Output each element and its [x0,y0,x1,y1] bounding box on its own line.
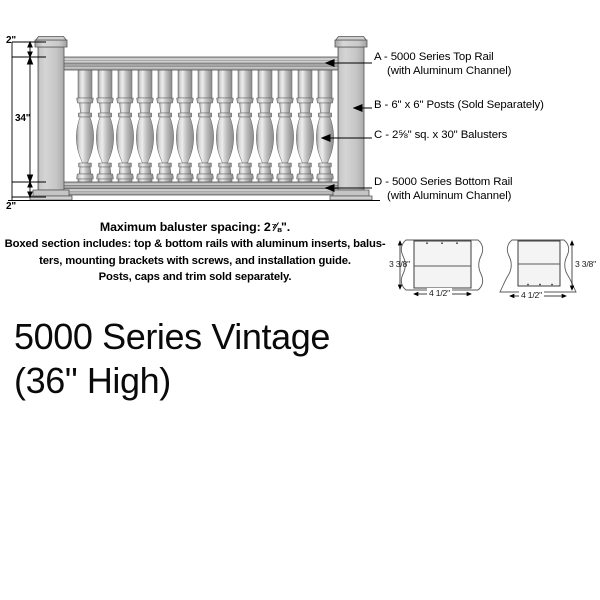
cross-section-2-width-label: 4 1/2" [519,290,544,300]
cross-section-1-height-label: 3 3/8" [389,259,410,269]
title-line-1: 5000 Series Vintage [14,315,534,359]
cross-section-top-rail [401,240,482,290]
product-diagram-page: 2" 34" 2" A - 5000 Series Top Rail (with… [0,0,600,600]
cross-section-bottom-rail [500,240,576,292]
page-title: 5000 Series Vintage (36" High) [14,315,534,403]
cross-section-drawings [0,0,600,600]
cross-section-2-height-label: 3 3/8" [575,259,596,269]
title-line-2: (36" High) [14,359,534,403]
cross-section-1-width-label: 4 1/2" [427,288,452,298]
